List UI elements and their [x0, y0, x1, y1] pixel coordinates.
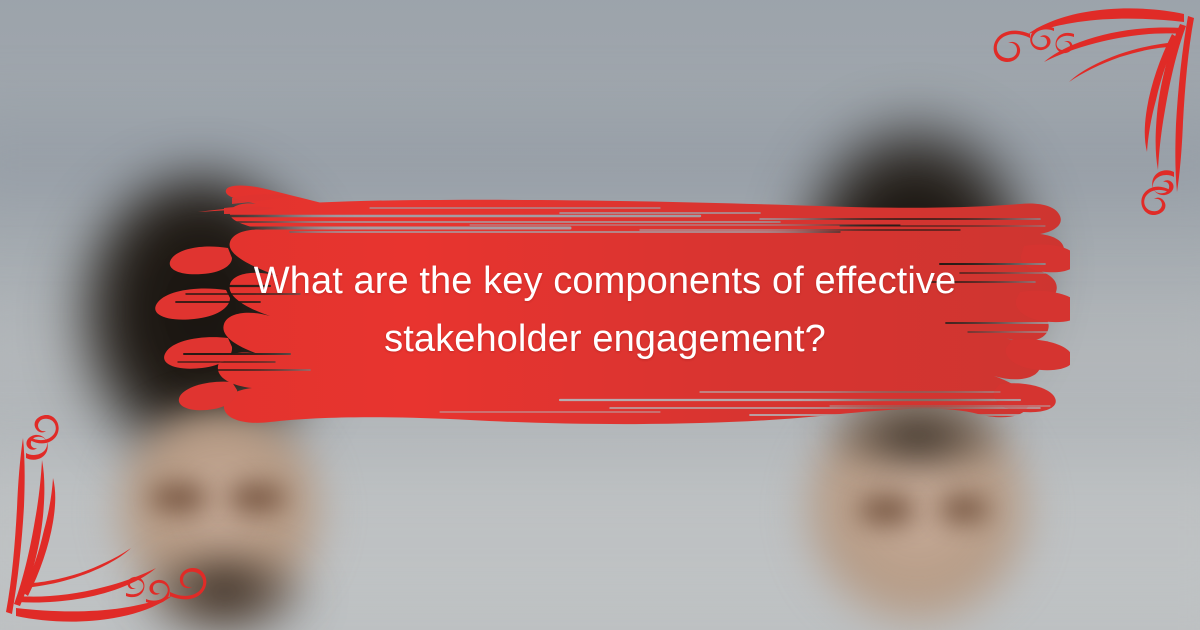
headline-line-2: stakeholder engagement? — [384, 317, 826, 361]
blurred-person-right-eye-right — [938, 495, 990, 523]
headline-line-1: What are the key components of effective — [254, 259, 956, 303]
blurred-person-left-eye-right — [228, 483, 286, 513]
question-card-canvas: What are the key components of effective… — [0, 0, 1200, 630]
headline-text-block: What are the key components of effective… — [170, 196, 1040, 424]
blurred-person-left-eye-left — [150, 483, 208, 513]
blurred-person-right-eye-left — [858, 495, 916, 525]
